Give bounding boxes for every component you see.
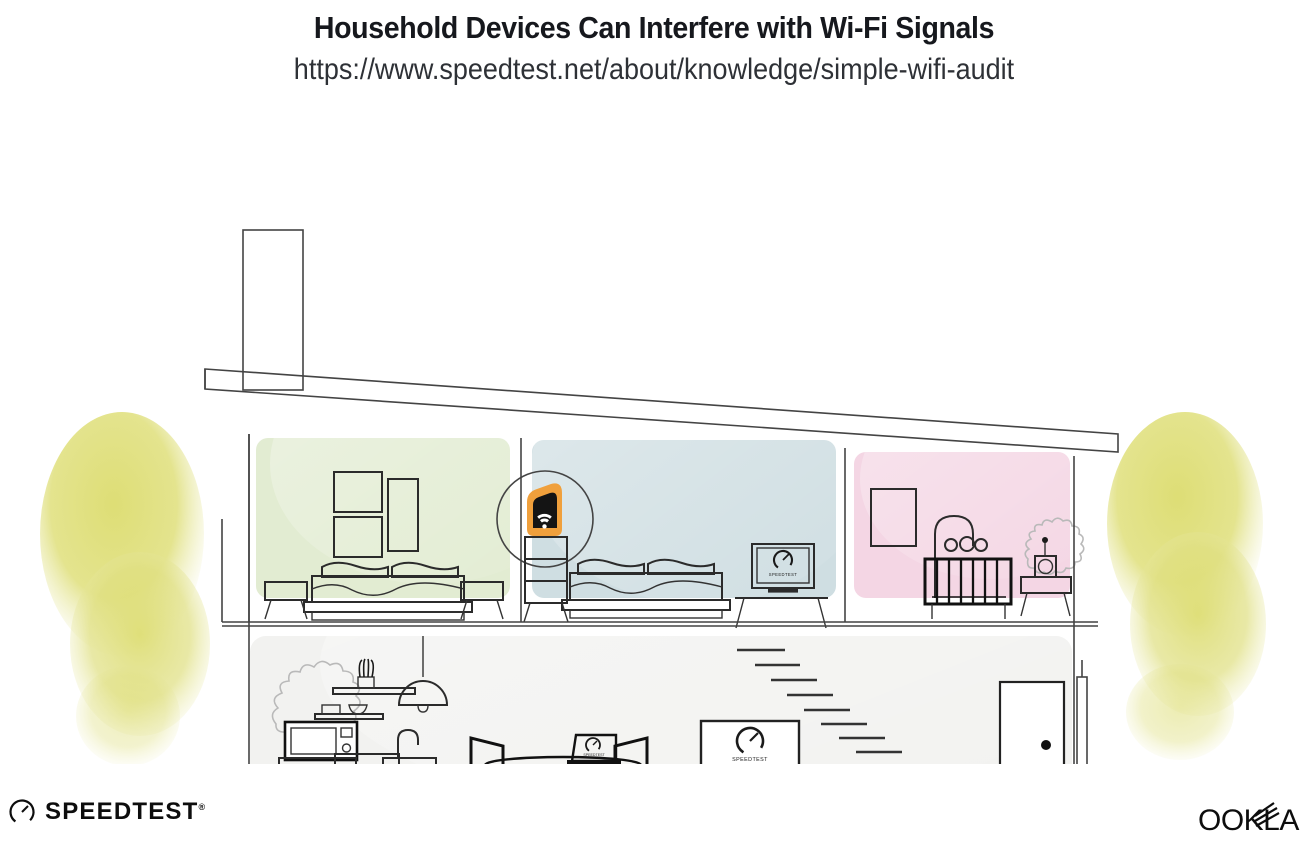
chimney bbox=[243, 230, 303, 390]
front-door[interactable] bbox=[1000, 682, 1064, 764]
speedtest-trademark: ® bbox=[199, 802, 206, 812]
desk-blue bbox=[735, 598, 828, 628]
speedtest-logo[interactable]: SPEEDTEST® bbox=[8, 798, 205, 826]
house-cutaway-svg: SPEEDTEST bbox=[0, 104, 1308, 764]
laptop-screen-label: SPEEDTEST bbox=[583, 753, 605, 757]
ookla-wordmark-text: OOKLA bbox=[1198, 804, 1299, 837]
television[interactable]: SPEEDTEST bbox=[701, 721, 799, 764]
wifi-router[interactable] bbox=[527, 483, 562, 536]
page-footer: SPEEDTEST® OOKLA bbox=[0, 780, 1308, 861]
sidelight-window bbox=[1077, 660, 1087, 764]
speedtest-wordmark-text: SPEEDTEST bbox=[45, 798, 199, 825]
page-title: Household Devices Can Interfere with Wi-… bbox=[52, 10, 1255, 46]
source-url: https://www.speedtest.net/about/knowledg… bbox=[65, 52, 1242, 88]
page-header: Household Devices Can Interfere with Wi-… bbox=[0, 0, 1308, 88]
house-illustration: SPEEDTEST bbox=[0, 104, 1308, 764]
monitor-screen-label: SPEEDTEST bbox=[769, 572, 798, 577]
speedometer-gauge-icon bbox=[8, 798, 36, 826]
ookla-wordmark-icon: OOKLA bbox=[1198, 800, 1308, 840]
illustration-page: Household Devices Can Interfere with Wi-… bbox=[0, 0, 1308, 861]
tv-screen-label: SPEEDTEST bbox=[732, 757, 768, 763]
foliage-right bbox=[1107, 412, 1266, 760]
room-bedroom-blue bbox=[530, 344, 870, 604]
speedtest-wordmark: SPEEDTEST® bbox=[45, 798, 205, 826]
foliage-left bbox=[40, 412, 210, 764]
ookla-logo[interactable]: OOKLA bbox=[1198, 800, 1308, 840]
door-knob[interactable] bbox=[1041, 740, 1051, 750]
